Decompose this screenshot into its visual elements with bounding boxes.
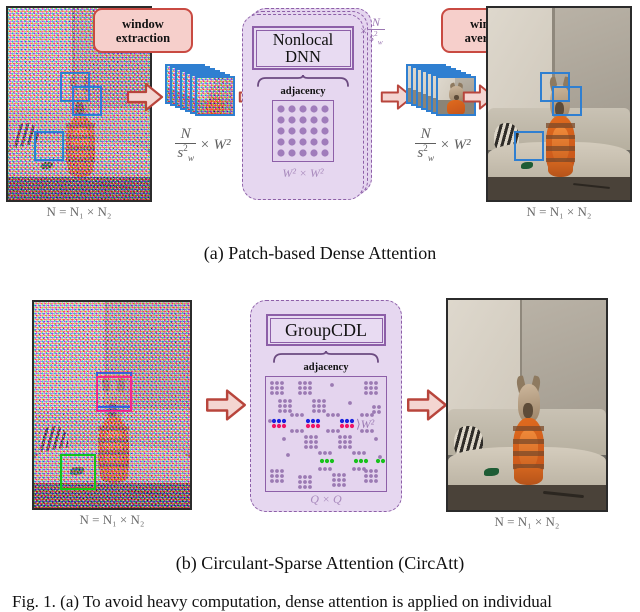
row-a-patch-stack-right-size-label: Ns2w × W² — [398, 126, 488, 165]
subfigure-b-caption: (b) Circulant-Sparse Attention (CircAtt) — [0, 553, 640, 574]
window-box-3 — [34, 131, 64, 161]
row-b-module: GroupCDL adjacency — [250, 300, 402, 512]
arrow-out-module-b — [406, 388, 448, 422]
highlight-row-green — [320, 459, 385, 463]
subfigure-a-caption: (a) Patch-based Dense Attention — [0, 243, 640, 264]
photo-scene — [448, 300, 606, 510]
adjacency-dim-text: W² × W² — [282, 166, 323, 180]
callout-window-extraction-line1: window — [122, 17, 164, 31]
module-title-line2: DNN — [285, 47, 321, 66]
adjacency-matrix-sparse — [265, 376, 387, 492]
adjacency-dim-label: W² × W² — [252, 166, 354, 181]
highlight-row-pink — [272, 424, 354, 428]
window-box-green — [60, 454, 96, 490]
row-b-output-size-label: N = N₁ × N₂ — [446, 514, 608, 530]
highlight-row-blue — [272, 419, 354, 423]
arrow-into-module-b — [205, 388, 247, 422]
frac-den-sup: 2 — [423, 144, 428, 154]
row-a-patch-stack-left-size-label: Ns2w × W² — [160, 126, 246, 165]
adjacency-label: adjacency — [252, 86, 354, 97]
row-b-input-image — [32, 300, 192, 510]
adjacency-matrix-dense — [272, 100, 334, 162]
callout-window-extraction: window extraction — [93, 8, 193, 53]
figure-root: N = N₁ × N₂ window extraction — [0, 0, 640, 607]
repeat-num: N — [367, 16, 384, 30]
row-a-module: Nonlocal DNN adjacency — [240, 8, 380, 198]
row-a-output-size-label: N = N₁ × N₂ — [486, 204, 632, 220]
band-width-label: ⟩W² — [356, 417, 374, 432]
module-title-box: GroupCDL — [266, 314, 386, 346]
module-title-box: Nonlocal DNN — [252, 26, 354, 70]
module-title: GroupCDL — [285, 321, 367, 340]
repeat-den-sub: w — [378, 38, 383, 47]
row-a-patch-stack-left — [165, 64, 239, 120]
arrow-extract — [126, 82, 164, 112]
patch-card — [195, 76, 235, 116]
adjacency-dim-label: Q × Q — [266, 492, 386, 507]
callout-window-extraction-line2: extraction — [116, 31, 170, 45]
row-a-input-size-label: N = N₁ × N₂ — [6, 204, 152, 220]
frac-den-sub: w — [428, 154, 434, 164]
adjacency-dim-text: Q × Q — [310, 492, 341, 506]
frac-den-sup: 2 — [183, 144, 188, 154]
frac-den-sub: w — [188, 154, 194, 164]
repeat-prefix: × — [360, 23, 367, 38]
patch-size-mult: × W² — [440, 137, 471, 153]
frac-num: N — [415, 126, 436, 144]
row-a-output-image — [486, 6, 632, 202]
band-label: W² — [361, 417, 375, 431]
module-repeat-label: ×Ns2w — [360, 16, 385, 48]
row-b-input-size-label: N = N₁ × N₂ — [32, 512, 192, 528]
patch-size-mult: × W² — [200, 137, 231, 153]
module-title-line1: Nonlocal — [273, 30, 333, 49]
window-box-2 — [72, 86, 102, 116]
frac-num: N — [175, 126, 196, 144]
window-box-3 — [514, 131, 544, 161]
figure-caption: Fig. 1. (a) To avoid heavy computation, … — [12, 592, 552, 612]
row-b-output-image — [446, 298, 608, 512]
window-box-2 — [552, 86, 582, 116]
window-box-magenta — [96, 376, 132, 412]
adjacency-label: adjacency — [266, 362, 386, 373]
